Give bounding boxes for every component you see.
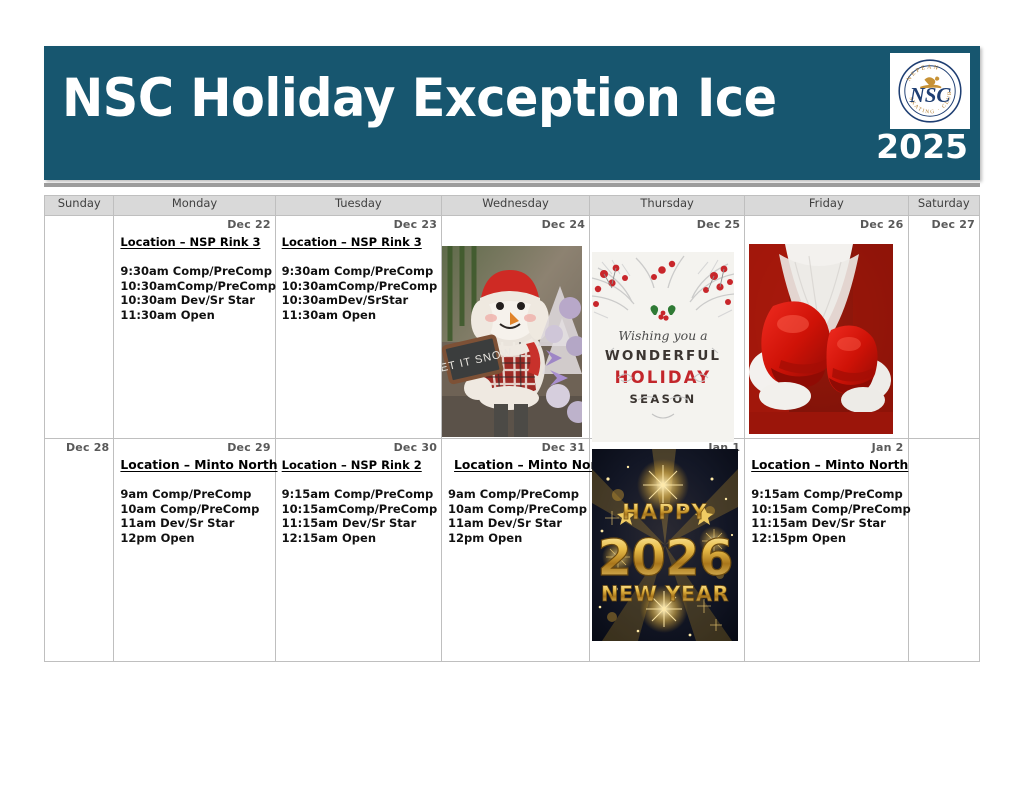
card-line-3: HOLIDAY (615, 368, 712, 387)
day-cell-jan-2[interactable]: Jan 2 Location – Minto North 9:15am Comp… (745, 439, 908, 662)
ice-slot-list: 9:30am Comp/PreComp 10:30amComp/PreComp … (120, 264, 269, 322)
page-title: NSC Holiday Exception Ice (62, 72, 777, 125)
ice-slot: 10:30amComp/PreComp (282, 279, 436, 294)
ice-slot: 9:30am Comp/PreComp (282, 264, 436, 279)
ice-slot: 11:30am Open (120, 308, 269, 323)
dow-header-thursday: Thursday (590, 196, 745, 216)
calendar-table: Sunday Monday Tuesday Wednesday Thursday… (44, 195, 980, 662)
dow-header-tuesday: Tuesday (275, 196, 441, 216)
ice-slot: 9:15am Comp/PreComp (751, 487, 902, 502)
ice-slot-list: 9:30am Comp/PreComp 10:30amComp/PreComp … (282, 264, 436, 322)
ice-slot: 11am Dev/Sr Star (120, 516, 269, 531)
day-cell-dec-31[interactable]: Dec 31 Location – Minto North 9am Comp/P… (442, 439, 590, 662)
location-label: Location – NSP Rink 3 (282, 235, 436, 249)
day-cell-dec-29[interactable]: Dec 29 Location – Minto North 9am Comp/P… (114, 439, 275, 662)
location-label: Location – Minto North (454, 458, 584, 472)
day-number: Dec 31 (542, 441, 585, 454)
snowman-let-it-snow-photo: LET IT SNOW (442, 246, 582, 437)
holiday-exception-ice-calendar-page: NSC Holiday Exception Ice 2025 NEPEAN SK… (0, 0, 1024, 791)
ice-slot-list: 9:15am Comp/PreComp 10:15am Comp/PreComp… (751, 487, 902, 545)
day-cell-empty-sunday-week1[interactable] (45, 216, 114, 439)
ice-slot-list: 9:15am Comp/PreComp 10:15amComp/PreComp … (282, 487, 436, 545)
santa-boxing-gloves-photo (749, 244, 893, 434)
year-label: 2025 (876, 130, 968, 163)
location-label: Location – NSP Rink 3 (120, 235, 269, 249)
ice-slot: 10:15amComp/PreComp (282, 502, 436, 517)
day-number: Dec 24 (542, 218, 585, 231)
day-cell-dec-23[interactable]: Dec 23 Location – NSP Rink 3 9:30am Comp… (275, 216, 441, 439)
ice-slot: 10:30amDev/SrStar (282, 293, 436, 308)
day-number: Dec 26 (860, 218, 903, 231)
header-banner: NSC Holiday Exception Ice 2025 NEPEAN SK… (44, 46, 980, 180)
day-of-week-header-row: Sunday Monday Tuesday Wednesday Thursday… (45, 196, 980, 216)
ice-slot: 11:30am Open (282, 308, 436, 323)
dow-header-friday: Friday (745, 196, 908, 216)
calendar-week-row: Dec 28 Dec 29 Location – Minto North 9am… (45, 439, 980, 662)
dow-header-monday: Monday (114, 196, 275, 216)
ice-slot: 12:15am Open (282, 531, 436, 546)
day-number: Dec 28 (66, 441, 109, 454)
location-label: Location – Minto North (751, 458, 902, 472)
ice-slot: 10am Comp/PreComp (120, 502, 269, 517)
dow-header-wednesday: Wednesday (442, 196, 590, 216)
day-cell-dec-25[interactable]: Dec 25 (590, 216, 745, 439)
nye-line-3: NEW YEAR (601, 582, 729, 606)
day-cell-empty-saturday-week2[interactable] (908, 439, 980, 662)
card-line-2: WONDERFUL (605, 348, 721, 364)
ice-slot: 11:15am Dev/Sr Star (282, 516, 436, 531)
day-cell-dec-30[interactable]: Dec 30 Location – NSP Rink 2 9:15am Comp… (275, 439, 441, 662)
day-cell-dec-22[interactable]: Dec 22 Location – NSP Rink 3 9:30am Comp… (114, 216, 275, 439)
ice-slot: 9am Comp/PreComp (120, 487, 269, 502)
day-cell-dec-27[interactable]: Dec 27 (908, 216, 980, 439)
ice-slot: 9:15am Comp/PreComp (282, 487, 436, 502)
ice-slot: 12pm Open (120, 531, 269, 546)
location-label: Location – Minto North (120, 458, 269, 472)
ice-slot: 10:15am Comp/PreComp (751, 502, 902, 517)
day-number: Dec 25 (697, 218, 740, 231)
day-number: Jan 2 (872, 441, 904, 454)
calendar-week-row: Dec 22 Location – NSP Rink 3 9:30am Comp… (45, 216, 980, 439)
dow-header-saturday: Saturday (908, 196, 980, 216)
day-number: Dec 29 (227, 441, 270, 454)
svg-text:NSC: NSC (909, 83, 952, 107)
day-number: Dec 22 (227, 218, 270, 231)
ice-slot: 11:15am Dev/Sr Star (751, 516, 902, 531)
nye-line-2: 2026 (597, 529, 732, 587)
day-number: Dec 27 (932, 218, 975, 231)
ice-slot-list: 9am Comp/PreComp 10am Comp/PreComp 11am … (120, 487, 269, 545)
ice-slot-list: 9am Comp/PreComp 10am Comp/PreComp 11am … (448, 487, 584, 545)
ice-slot: 10:30am Dev/Sr Star (120, 293, 269, 308)
day-cell-dec-26[interactable]: Dec 26 (745, 216, 908, 439)
ice-slot: 10am Comp/PreComp (448, 502, 584, 517)
ice-slot: 9am Comp/PreComp (448, 487, 584, 502)
ice-slot: 11am Dev/Sr Star (448, 516, 584, 531)
day-cell-jan-1[interactable]: Jan 1 (590, 439, 745, 662)
card-line-1: Wishing you a (618, 328, 707, 343)
day-cell-dec-24[interactable]: Dec 24 (442, 216, 590, 439)
happy-2026-new-year-fireworks: HAPPY 2026 NEW YEAR (592, 449, 738, 641)
day-number: Dec 30 (394, 441, 437, 454)
day-number: Dec 23 (394, 218, 437, 231)
wishing-you-a-wonderful-holiday-season-card: Wishing you a WONDERFUL HOLIDAY SEASON (592, 252, 734, 442)
location-label: Location – NSP Rink 2 (282, 458, 436, 472)
ice-slot: 12:15pm Open (751, 531, 902, 546)
day-cell-dec-28[interactable]: Dec 28 (45, 439, 114, 662)
dow-header-sunday: Sunday (45, 196, 114, 216)
ice-slot: 10:30amComp/PreComp (120, 279, 269, 294)
ice-slot: 9:30am Comp/PreComp (120, 264, 269, 279)
nepean-skating-club-logo: NEPEAN SKATING · CLUB NSC (890, 53, 970, 129)
nye-line-1: HAPPY (622, 500, 708, 524)
ice-slot: 12pm Open (448, 531, 584, 546)
banner-divider (44, 183, 980, 187)
